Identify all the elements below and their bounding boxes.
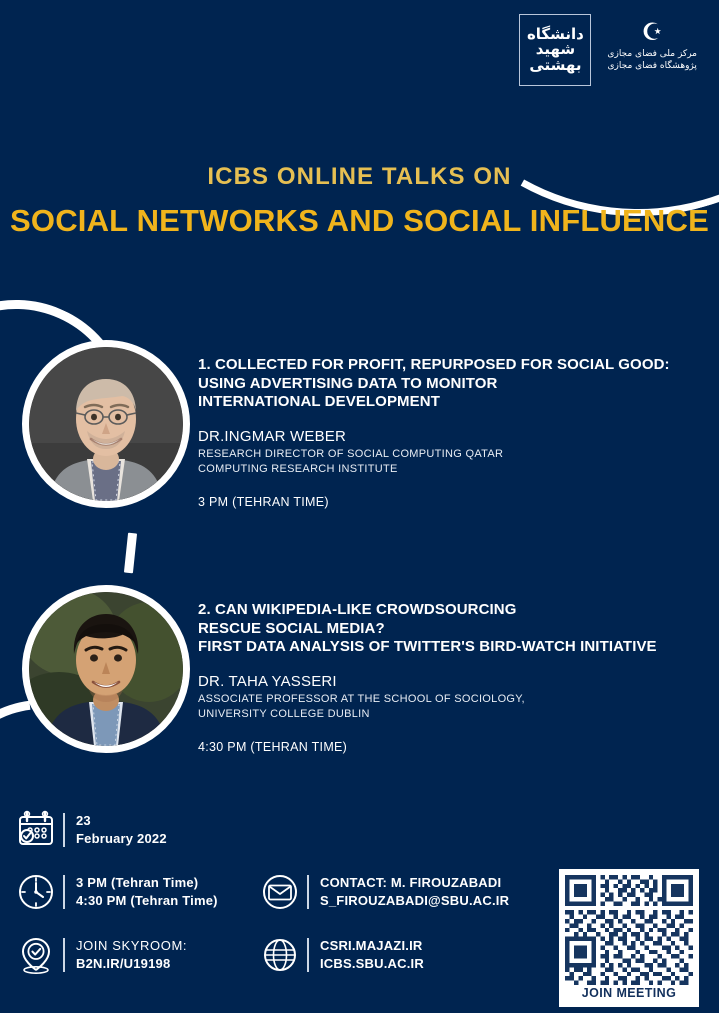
- clock-icon: [14, 870, 58, 914]
- talk-1-speaker-name: DR.INGMAR WEBER: [198, 428, 703, 445]
- talk-1-title-line-2: USING ADVERTISING DATA TO MONITOR: [198, 375, 703, 394]
- talk-1-title: 1. COLLECTED FOR PROFIT, REPURPOSED FOR …: [198, 356, 703, 412]
- info-divider: [63, 813, 65, 847]
- info-date-day: 23: [76, 812, 167, 830]
- shahid-beheshti-university-logo: دانشگاه شهید بهشتی: [519, 14, 591, 86]
- info-divider: [63, 938, 65, 972]
- iran-emblem-icon: ☪: [641, 20, 663, 44]
- center-logo-line-1: مرکز ملی فضای مجازی: [607, 48, 697, 60]
- talk-2-time: 4:30 PM (TEHRAN TIME): [198, 740, 703, 754]
- iran-emblem-logo: ☪ مرکز ملی فضای مجازی پژوهشگاه فضای مجاز…: [607, 14, 697, 72]
- info-website-2[interactable]: ICBS.SBU.AC.IR: [320, 955, 424, 973]
- talk-2-affiliation: ASSOCIATE PROFESSOR AT THE SCHOOL OF SOC…: [198, 692, 703, 722]
- info-skyroom-label: JOIN SKYROOM:: [76, 937, 187, 955]
- talk-entry-2: 2. CAN WIKIPEDIA-LIKE CROWDSOURCING RESC…: [0, 585, 719, 785]
- info-websites-text: CSRI.MAJAZI.IR ICBS.SBU.AC.IR: [320, 937, 424, 974]
- envelope-icon: [258, 870, 302, 914]
- portrait-ingmar-weber: [29, 347, 183, 501]
- talk-1-title-line-1: 1. COLLECTED FOR PROFIT, REPURPOSED FOR …: [198, 356, 703, 375]
- info-time-line-2: 4:30 PM (Tehran Time): [76, 892, 218, 910]
- avatar-speaker-2: [22, 585, 190, 753]
- info-date-text: 23 February 2022: [76, 812, 167, 849]
- poster-kicker: ICBS ONLINE TALKS ON: [0, 163, 719, 191]
- talk-2-body: 2. CAN WIKIPEDIA-LIKE CROWDSOURCING RESC…: [198, 601, 703, 754]
- info-divider: [307, 875, 309, 909]
- info-row-skyroom[interactable]: JOIN SKYROOM: B2N.IR/U19198: [14, 933, 187, 977]
- info-contact-email[interactable]: S_FIROUZABADI@SBU.AC.IR: [320, 892, 509, 910]
- calendar-icon: [14, 808, 58, 852]
- talk-2-title-line-2: RESCUE SOCIAL MEDIA?: [198, 620, 703, 639]
- info-time-line-1: 3 PM (Tehran Time): [76, 874, 218, 892]
- info-divider: [307, 938, 309, 972]
- info-divider: [63, 875, 65, 909]
- info-row-date: 23 February 2022: [14, 808, 167, 852]
- talk-2-affiliation-line-2: UNIVERSITY COLLEGE DUBLIN: [198, 707, 703, 722]
- info-skyroom-text: JOIN SKYROOM: B2N.IR/U19198: [76, 937, 187, 974]
- info-row-time: 3 PM (Tehran Time) 4:30 PM (Tehran Time): [14, 870, 218, 914]
- talk-1-affiliation-line-2: COMPUTING RESEARCH INSTITUTE: [198, 462, 703, 477]
- info-website-1[interactable]: CSRI.MAJAZI.IR: [320, 937, 424, 955]
- info-row-websites[interactable]: CSRI.MAJAZI.IR ICBS.SBU.AC.IR: [258, 933, 424, 977]
- talk-1-affiliation-line-1: RESEARCH DIRECTOR OF SOCIAL COMPUTING QA…: [198, 447, 703, 462]
- talk-2-title-line-1: 2. CAN WIKIPEDIA-LIKE CROWDSOURCING: [198, 601, 703, 620]
- talk-2-title: 2. CAN WIKIPEDIA-LIKE CROWDSOURCING RESC…: [198, 601, 703, 657]
- info-contact-label: CONTACT: M. FIROUZABADI: [320, 874, 509, 892]
- talk-1-body: 1. COLLECTED FOR PROFIT, REPURPOSED FOR …: [198, 356, 703, 509]
- header-logos: دانشگاه شهید بهشتی ☪ مرکز ملی فضای مجازی…: [519, 14, 697, 86]
- talk-2-affiliation-line-1: ASSOCIATE PROFESSOR AT THE SCHOOL OF SOC…: [198, 692, 703, 707]
- avatar-speaker-1: [22, 340, 190, 508]
- info-contact-text: CONTACT: M. FIROUZABADI S_FIROUZABADI@SB…: [320, 874, 509, 911]
- info-row-contact[interactable]: CONTACT: M. FIROUZABADI S_FIROUZABADI@SB…: [258, 870, 509, 914]
- qr-join-meeting-label: JOIN MEETING: [582, 986, 676, 1000]
- info-skyroom-value[interactable]: B2N.IR/U19198: [76, 955, 187, 973]
- talk-1-time: 3 PM (TEHRAN TIME): [198, 495, 703, 509]
- talk-2-title-line-3: FIRST DATA ANALYSIS OF TWITTER'S BIRD-WA…: [198, 638, 703, 657]
- talk-2-speaker-name: DR. TAHA YASSERI: [198, 673, 703, 690]
- portrait-taha-yasseri: [29, 592, 183, 746]
- globe-icon: [258, 933, 302, 977]
- location-pin-check-icon: [14, 933, 58, 977]
- info-date-month-year: February 2022: [76, 830, 167, 848]
- talk-1-affiliation: RESEARCH DIRECTOR OF SOCIAL COMPUTING QA…: [198, 447, 703, 477]
- talk-entry-1: 1. COLLECTED FOR PROFIT, REPURPOSED FOR …: [0, 340, 719, 540]
- logo-calligraphy-line-3: بهشتی: [527, 58, 584, 73]
- info-time-text: 3 PM (Tehran Time) 4:30 PM (Tehran Time): [76, 874, 218, 911]
- join-meeting-qr-panel[interactable]: JOIN MEETING: [559, 869, 699, 1007]
- event-poster: دانشگاه شهید بهشتی ☪ مرکز ملی فضای مجازی…: [0, 0, 719, 1013]
- poster-headline: SOCIAL NETWORKS AND SOCIAL INFLUENCE: [0, 203, 719, 239]
- qr-code-image[interactable]: [565, 875, 693, 985]
- center-logo-line-2: پژوهشگاه فضای مجازی: [607, 60, 697, 72]
- talk-1-title-line-3: INTERNATIONAL DEVELOPMENT: [198, 393, 703, 412]
